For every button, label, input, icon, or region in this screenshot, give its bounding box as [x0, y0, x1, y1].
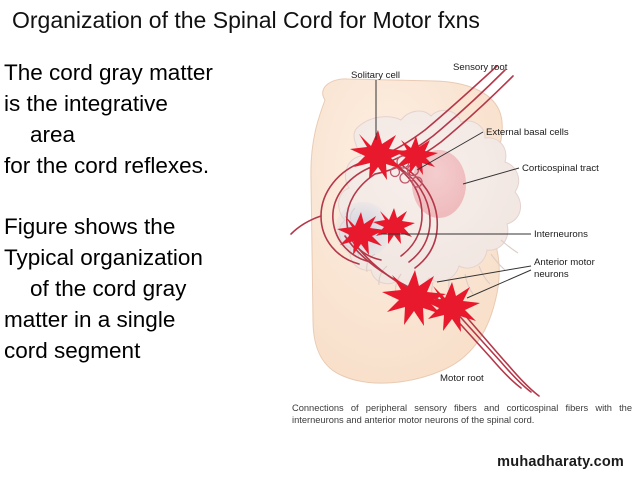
label-sensory-root: Sensory root: [453, 62, 507, 73]
spinal-cord-figure: Solitary cell Sensory root External basa…: [285, 58, 638, 458]
body-text-block: The cord gray matter is the integrative …: [4, 57, 289, 366]
body-line-5: Figure shows the: [4, 211, 289, 242]
label-motor-root: Motor root: [440, 373, 484, 384]
body-line-7: of the cord gray: [4, 273, 289, 304]
body-line-3: area: [4, 119, 289, 150]
body-line-9: cord segment: [4, 335, 289, 366]
label-interneurons: Interneurons: [534, 229, 588, 240]
label-anterior-motor-neurons-line2: neurons: [534, 269, 569, 280]
label-external-basal-cells: External basal cells: [486, 127, 569, 138]
label-anterior-motor-neurons-line1: Anterior motor: [534, 257, 595, 268]
slide-canvas: Organization of the Spinal Cord for Moto…: [0, 0, 638, 479]
watermark: muhadharaty.com: [497, 454, 624, 470]
page-title: Organization of the Spinal Cord for Moto…: [12, 6, 627, 34]
body-line-4: for the cord reflexes.: [4, 150, 289, 181]
label-solitary-cell: Solitary cell: [351, 70, 400, 81]
body-line-8: matter in a single: [4, 304, 289, 335]
body-line-2: is the integrative: [4, 88, 289, 119]
label-corticospinal-tract: Corticospinal tract: [522, 163, 599, 174]
body-line-6: Typical organization: [4, 242, 289, 273]
body-line-1: The cord gray matter: [4, 57, 289, 88]
figure-caption: Connections of peripheral sensory fibers…: [292, 403, 632, 426]
